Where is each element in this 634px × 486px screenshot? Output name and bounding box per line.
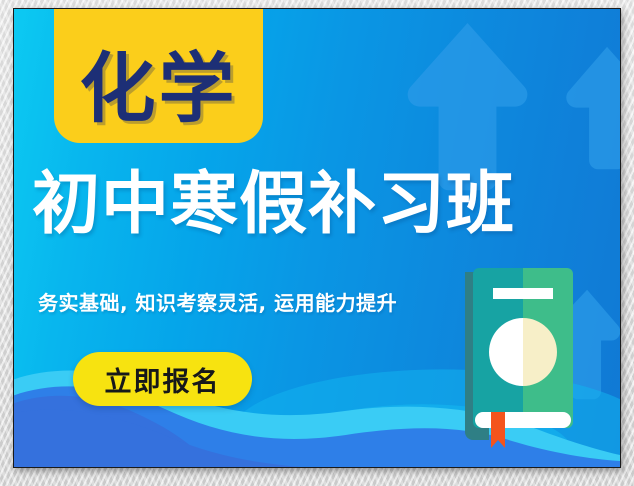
subject-badge-label: 化学	[80, 51, 238, 127]
book-pages	[475, 412, 571, 428]
subtitle-text: 务实基础, 知识考察灵活, 运用能力提升	[38, 287, 397, 316]
subject-badge: 化学	[54, 8, 263, 143]
signup-button[interactable]: 立即报名	[73, 352, 252, 406]
book-top-band	[493, 288, 553, 299]
headline-text: 初中寒假补习班	[32, 171, 604, 239]
signup-button-label: 立即报名	[105, 360, 221, 399]
book-illustration	[461, 262, 585, 454]
page-backdrop: 化学 初中寒假补习班 务实基础, 知识考察灵活, 运用能力提升 立即报名	[0, 0, 634, 486]
bookmark-icon	[491, 412, 505, 448]
promo-banner: 化学 初中寒假补习班 务实基础, 知识考察灵活, 运用能力提升 立即报名	[13, 8, 621, 468]
